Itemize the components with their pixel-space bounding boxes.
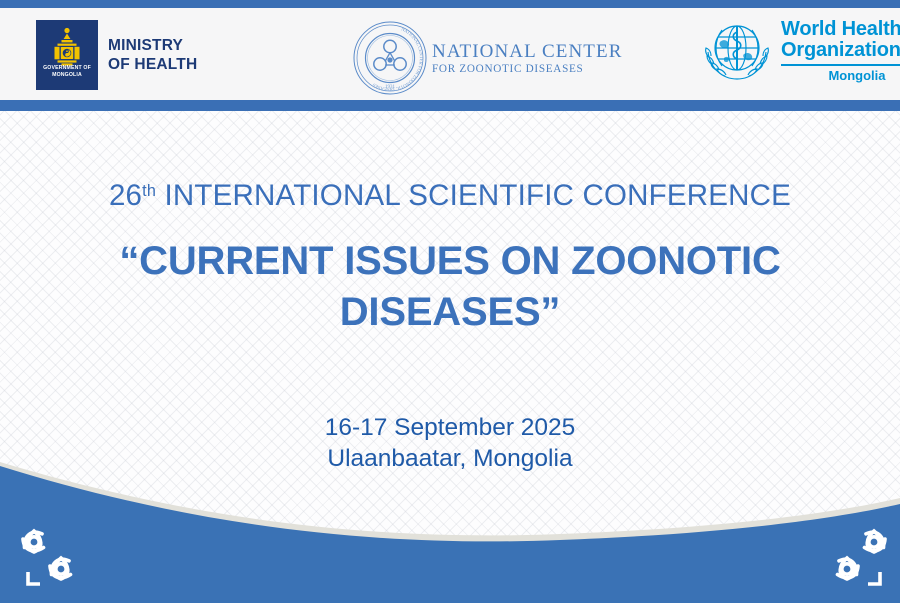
emblem-caption-line2: MONGOLIA [36,72,98,79]
soyombo-symbol-icon [50,26,84,68]
national-center-zoonotic-diseases-logo: NATIONAL CENTER FOR ZOONOTIC DISEASES 19… [352,20,622,96]
svg-text:1931: 1931 [385,85,396,90]
ministry-name-line1: MINISTRY [108,36,197,55]
ministry-name: MINISTRY OF HEALTH [108,36,197,74]
zoonotic-center-seal-icon: NATIONAL CENTER FOR ZOONOTIC DISEASES 19… [352,20,428,96]
emblem-caption: GOVERNMENT OF MONGOLIA [36,65,98,79]
who-mongolia-logo: World Health Organization Mongolia [700,18,900,84]
conference-heading: 26th INTERNATIONAL SCIENTIFIC CONFERENCE [0,176,900,220]
conference-ordinal: th [142,182,156,200]
who-name-block: World Health Organization Mongolia [781,19,900,83]
triquetra-knot-icon-right [812,522,894,594]
nczd-name-line1: NATIONAL CENTER [432,41,622,62]
nczd-name: NATIONAL CENTER FOR ZOONOTIC DISEASES [432,41,622,76]
conference-theme-line1: “CURRENT ISSUES ON ZOONOTIC [0,236,900,287]
emblem-caption-line1: GOVERNMENT OF [36,65,98,72]
event-dates: 16-17 September 2025 [0,412,900,443]
ministry-of-health-logo: GOVERNMENT OF MONGOLIA MINISTRY OF HEALT… [36,20,197,90]
top-accent-rule [0,0,900,8]
conference-label: INTERNATIONAL SCIENTIFIC CONFERENCE [165,179,792,212]
who-divider [781,64,900,66]
nczd-name-line2: FOR ZOONOTIC DISEASES [432,62,622,76]
conference-theme-line2: DISEASES” [0,287,900,338]
mongolia-state-emblem: GOVERNMENT OF MONGOLIA [36,20,98,90]
who-country-label: Mongolia [781,68,900,83]
who-emblem-icon [700,18,774,84]
conference-number: 26 [109,179,142,212]
who-name-line1: World Health [781,19,900,40]
title-block: 26th INTERNATIONAL SCIENTIFIC CONFERENCE… [0,176,900,338]
wave-fill [0,466,900,603]
footer-wave-graphic [0,440,900,603]
header-divider-rule [0,100,900,111]
conference-title-slide: GOVERNMENT OF MONGOLIA MINISTRY OF HEALT… [0,0,900,603]
triquetra-knot-icon-left [14,522,96,594]
who-name-line2: Organization [781,40,900,61]
ministry-name-line2: OF HEALTH [108,55,197,74]
